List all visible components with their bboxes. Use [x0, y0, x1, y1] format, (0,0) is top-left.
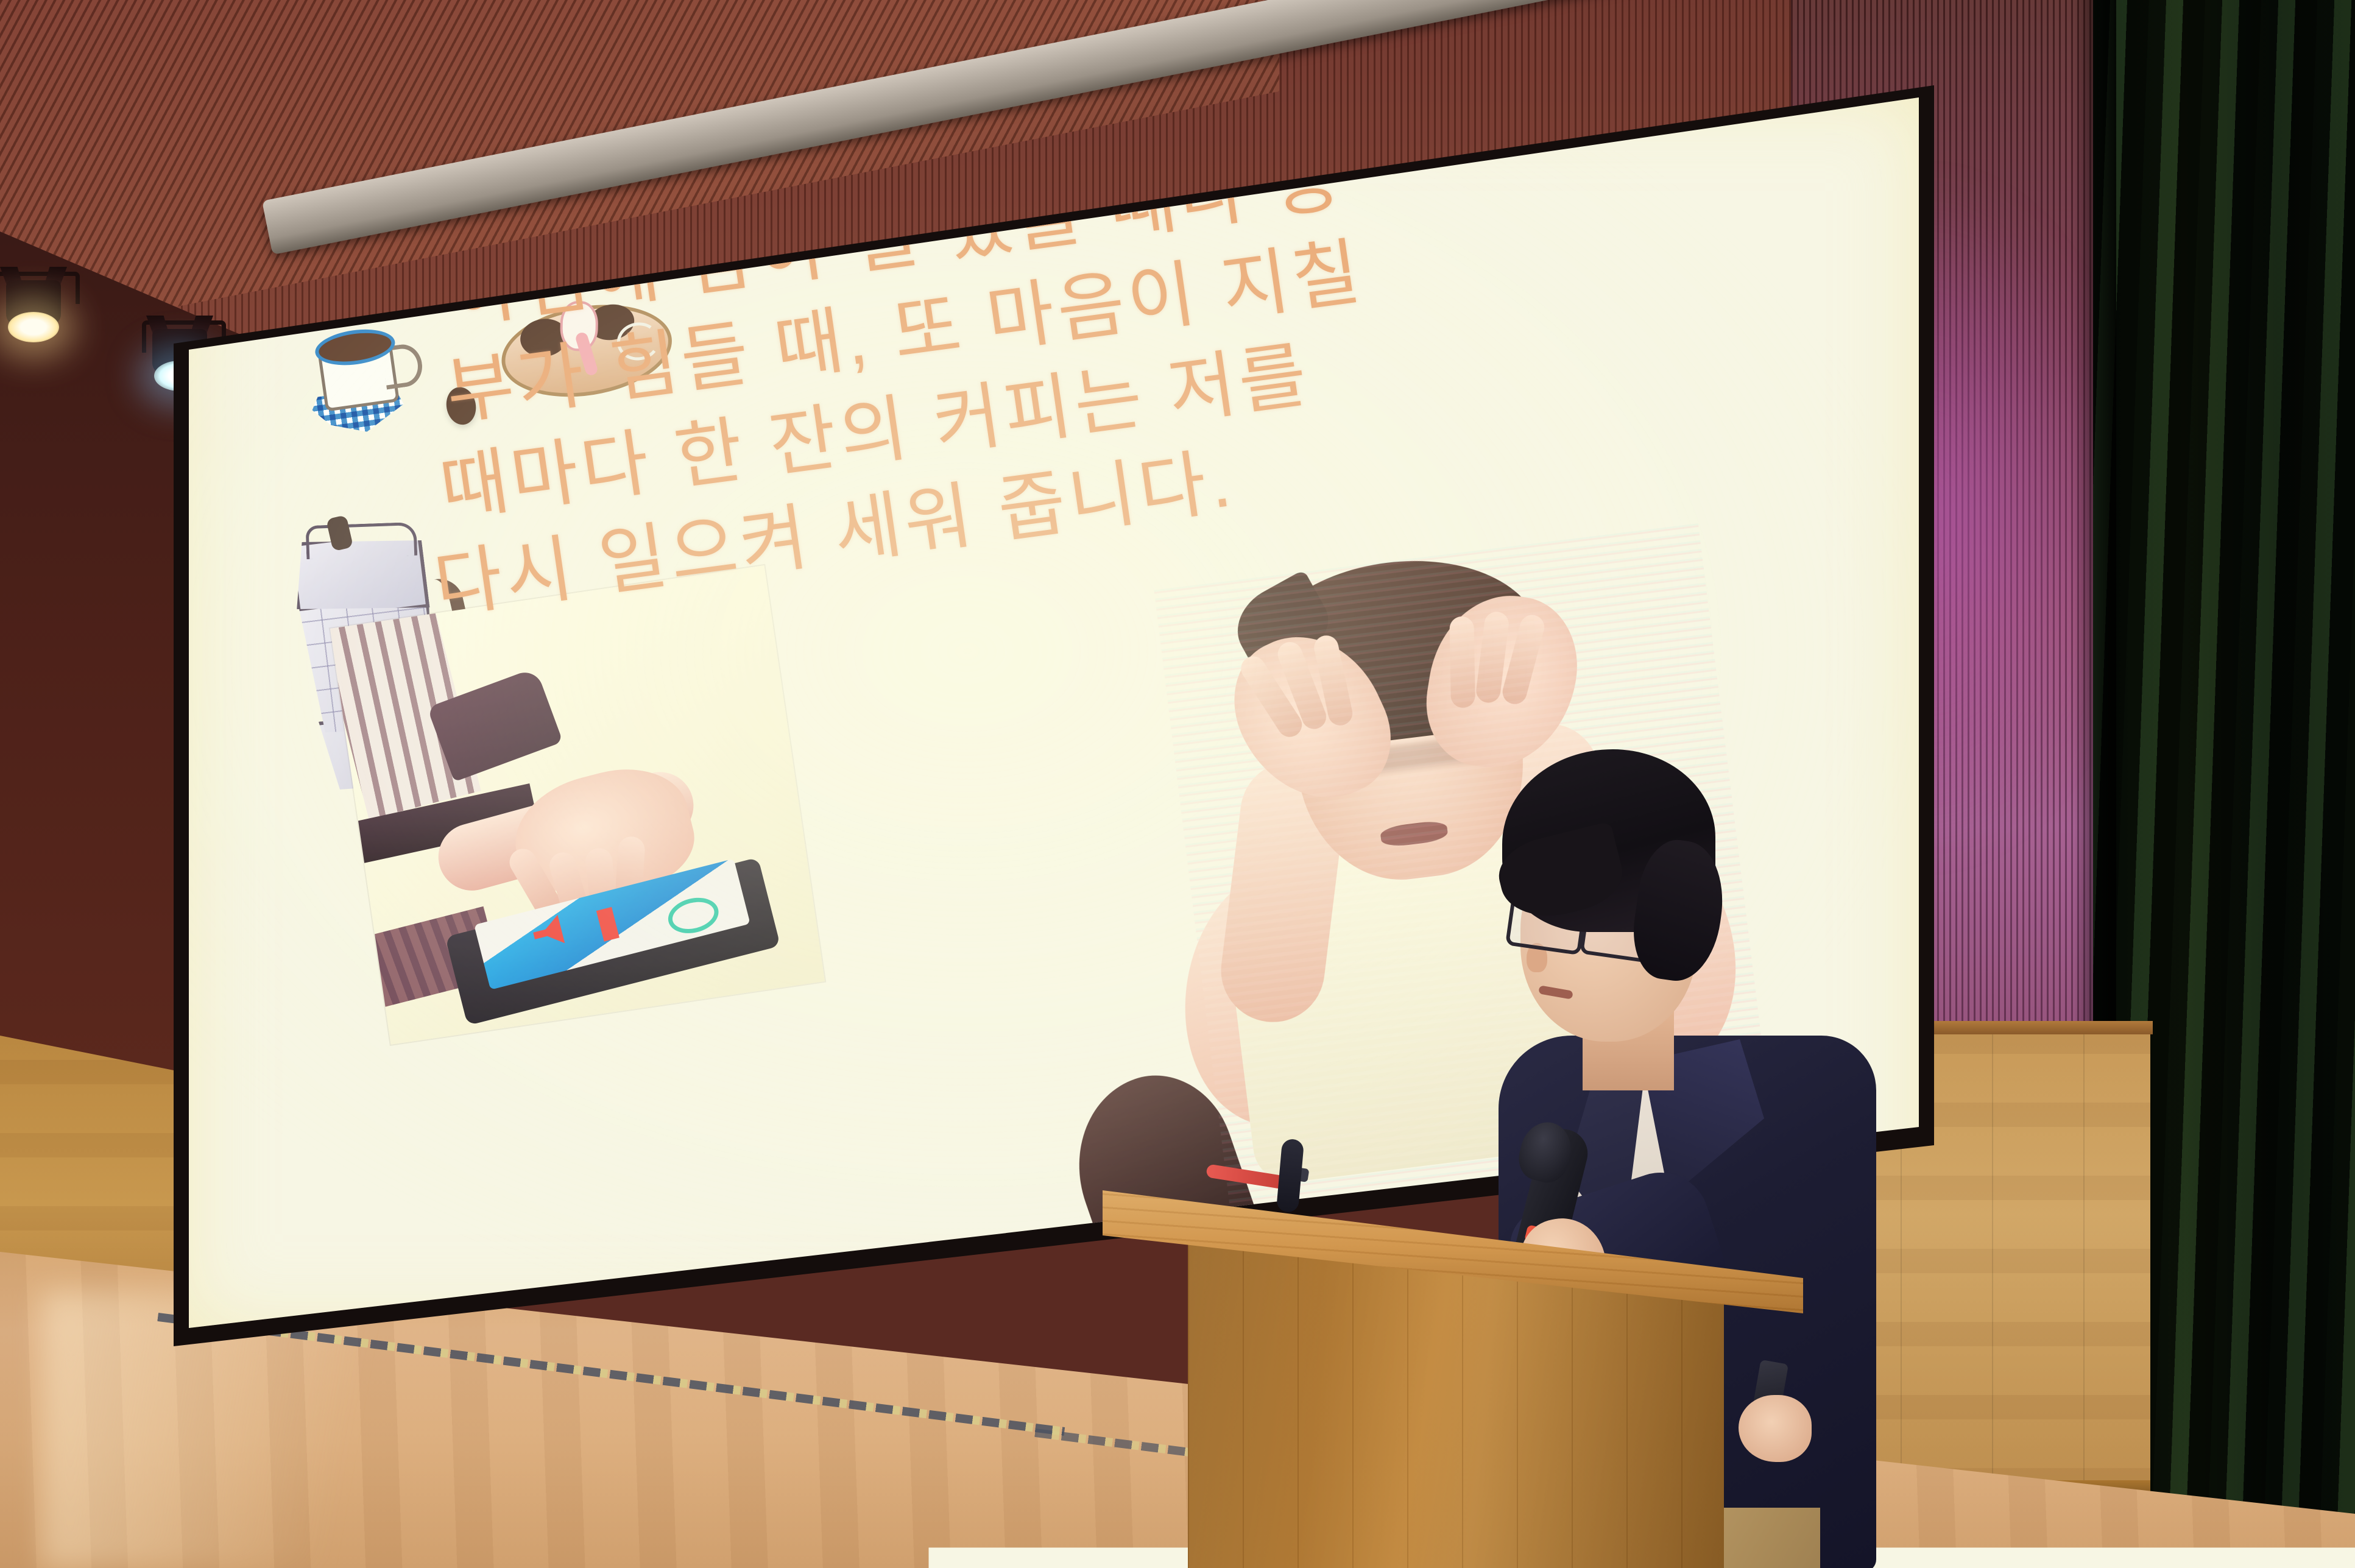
photo-hand-on-tablet [330, 565, 825, 1045]
auditorium-stage-scene: 아침에 잠이 덜 깼을 때나 공 부가 힘들 때, 또 마음이 지칠 때마다 한… [0, 0, 2355, 1568]
coffee-cup-illustration [311, 316, 414, 419]
finger [1449, 616, 1475, 708]
moka-lid-wire [305, 522, 417, 559]
spotlight-lens-warm [8, 312, 59, 342]
wooden-lectern [1103, 1176, 1803, 1568]
